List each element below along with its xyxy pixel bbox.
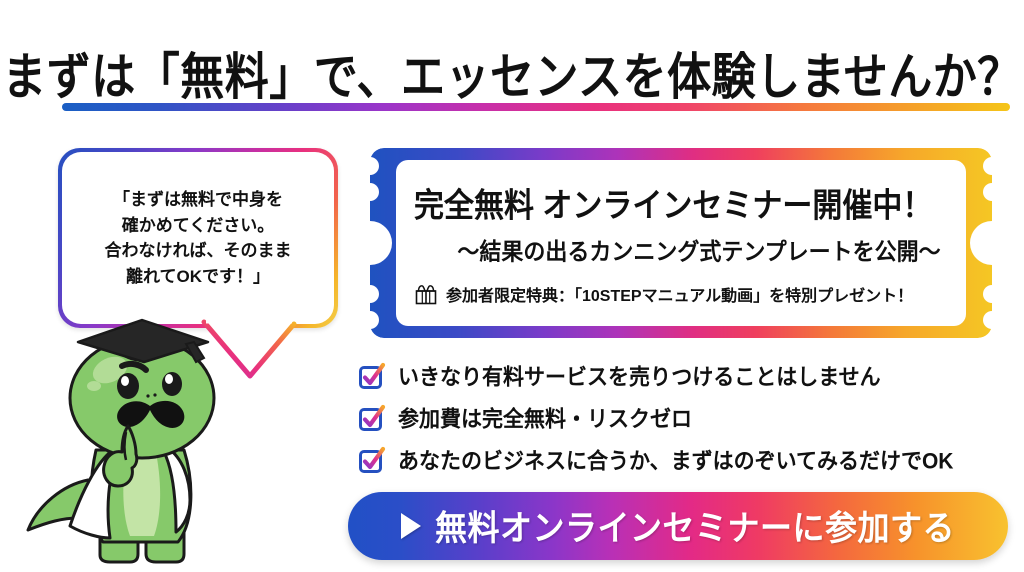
page-title: まずは「無料」で、エッセンスを体験しませんか？ xyxy=(0,36,1024,109)
speech-bubble-body: 「まずは無料で中身を 確かめてください。 合わなければ、そのまま 離れてOKです… xyxy=(62,152,334,324)
headline-gradient-rule xyxy=(62,103,1010,111)
mascot-illustration xyxy=(18,300,268,570)
checkbox-checked-icon xyxy=(358,362,386,390)
speech-bubble-line-1: 「まずは無料で中身を xyxy=(105,187,292,213)
checklist-item-label: いきなり有料サービスを売りつけることはしません xyxy=(398,360,881,392)
speech-bubble-text: 「まずは無料で中身を 確かめてください。 合わなければ、そのまま 離れてOKです… xyxy=(95,187,302,289)
play-triangle-icon xyxy=(401,513,421,539)
checkbox-checked-icon xyxy=(358,446,386,474)
checklist-item: 参加費は完全無料・リスクゼロ xyxy=(358,400,1018,436)
mascot-nostril-left xyxy=(146,394,149,397)
mascot-nostril-right xyxy=(153,393,156,396)
checklist-item-label: あなたのビジネスに合うか、まずはのぞいてみるだけでOK xyxy=(398,444,953,476)
join-seminar-button-label: 無料オンラインセミナーに参加する xyxy=(435,501,955,551)
ticket-content: 完全無料 オンラインセミナー開催中！ 〜結果の出るカンニング式テンプレートを公開… xyxy=(396,160,984,326)
checklist-item: いきなり有料サービスを売りつけることはしません xyxy=(358,358,1018,394)
checkbox-checked-icon xyxy=(358,404,386,432)
slide-canvas: まずは「無料」で、エッセンスを体験しませんか？ 「まずは無料で中身を 確かめてく… xyxy=(0,0,1024,572)
ticket-bonus-row: 参加者限定特典：「10STEPマニュアル動画」を特別プレゼント！ xyxy=(414,282,984,306)
ticket-headline: 完全無料 オンラインセミナー開催中！ xyxy=(414,178,984,226)
gift-icon xyxy=(414,282,438,306)
mascot-head-highlight-2 xyxy=(87,381,101,391)
speech-bubble-line-2: 確かめてください。 xyxy=(105,213,292,239)
speech-bubble-line-3: 合わなければ、そのまま xyxy=(105,238,292,264)
mascot-eye-left xyxy=(117,373,139,399)
checklist-item: あなたのビジネスに合うか、まずはのぞいてみるだけでOK xyxy=(358,442,1018,478)
ticket-bonus-text: 参加者限定特典：「10STEPマニュアル動画」を特別プレゼント！ xyxy=(446,282,913,306)
mascot-eye-right xyxy=(162,372,182,396)
benefits-checklist: いきなり有料サービスを売りつけることはしません 参加費は完全無料・リスクゼロ あ… xyxy=(358,358,1018,484)
speech-bubble-line-4: 離れてOKです！」 xyxy=(105,264,292,290)
mascot-eye-left-glint xyxy=(121,376,129,386)
checklist-item-label: 参加費は完全無料・リスクゼロ xyxy=(398,402,692,434)
mascot-eye-right-glint xyxy=(165,374,173,384)
join-seminar-button[interactable]: 無料オンラインセミナーに参加する xyxy=(348,492,1008,560)
ticket-subheadline: 〜結果の出るカンニング式テンプレートを公開〜 xyxy=(414,233,984,267)
